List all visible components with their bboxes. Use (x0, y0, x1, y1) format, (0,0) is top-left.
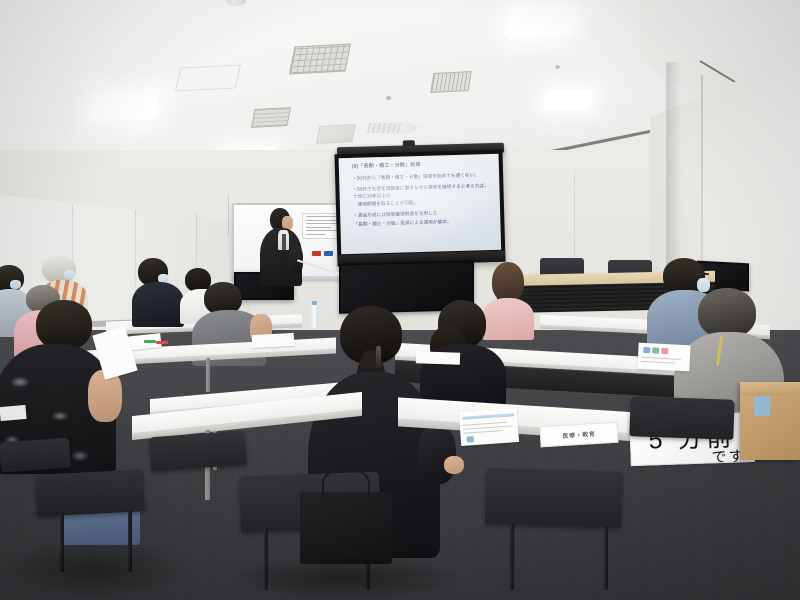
screen-pull-knob[interactable] (403, 140, 415, 146)
ceiling-light-4 (542, 89, 593, 111)
left-pale-mask (10, 280, 21, 289)
ceiling-light-3 (505, 5, 579, 37)
bottle-cap-1 (312, 301, 317, 305)
paper-left-edge (0, 405, 27, 421)
chair-left-mid (0, 438, 71, 473)
chair-mid-right (629, 396, 734, 440)
handbag-handle (322, 470, 370, 498)
table-row-3-leg (206, 358, 210, 392)
floor-shadow-center (230, 556, 460, 600)
handout2-block-blue (643, 347, 650, 353)
ponytail-hand (444, 456, 464, 474)
slide-line-5: 「長期・積立・分散」投資による運用が基本。 (353, 218, 490, 228)
whiteboard-magnet-red (312, 251, 321, 256)
handout-line-2 (463, 425, 513, 429)
chair-right-front-leg-2 (604, 526, 608, 590)
handout-band (462, 413, 514, 420)
whiteboard-magnet-blue (324, 251, 333, 256)
paper-right-edge (416, 351, 460, 365)
green-marker (144, 340, 156, 343)
chair-right-front (485, 468, 622, 528)
handbag (300, 492, 392, 564)
ceiling-speaker-panel (430, 71, 472, 93)
water-bottle-1 (311, 305, 318, 328)
handout-chart-block (467, 436, 474, 442)
slide-line-3: 運用期間を取ることが可能。 (353, 198, 490, 208)
handout2-block-pink (661, 348, 668, 354)
chair-mid-left (149, 431, 247, 472)
pink-blouse-head (492, 262, 524, 302)
floor-shadow-left (0, 540, 190, 600)
red-marker (156, 341, 168, 344)
cardboard-box-lid (740, 382, 800, 396)
ceiling-air-vent-1 (289, 44, 351, 75)
hair-clip (376, 346, 381, 368)
wall-seam-4 (228, 196, 229, 236)
ponytail-arm (418, 426, 456, 484)
chair-right-front-leg (510, 524, 514, 590)
presenter-tie (282, 234, 286, 250)
handout-right-2 (637, 343, 690, 372)
handout2-line-1 (641, 357, 681, 360)
handout2-line-2 (641, 361, 675, 364)
handout2-block-green (652, 347, 659, 353)
projection-screen: (8)「長期・積立・分散」投資 ・50代から「長期・積立・分散」投資を始めても遅… (334, 150, 505, 267)
handout-paper-2 (252, 333, 295, 348)
slide-line-1: ・50代から「長期・積立・分散」投資を始めても遅くない。 (352, 172, 489, 182)
presentation-slide: (8)「長期・積立・分散」投資 ・50代から「長期・積立・分散」投資を始めても遅… (346, 156, 496, 251)
ceiling-air-vent-3 (316, 124, 356, 144)
cardboard-box (740, 382, 800, 460)
grey-sweater-head (698, 288, 756, 338)
ceiling-air-vent-2 (251, 107, 291, 128)
cardboard-box-tape (754, 396, 770, 416)
slide-body: ・50代から「長期・積立・分散」投資を始めても遅くない。 ・50代でも定年退職後… (352, 172, 490, 228)
smoke-detector-2 (386, 96, 391, 100)
grey-hair-mask (64, 270, 75, 279)
front-left-head (36, 300, 92, 350)
ceiling-panel-joint (175, 64, 241, 91)
slide-line-2: ・50代でも定年退職後に働きながら運用を継続すると考えれば、十分に10年以上の (352, 183, 489, 200)
pink-blouse-body (482, 298, 534, 340)
ceiling-vent-strip (367, 123, 401, 133)
blue-shirt-mask (697, 278, 710, 292)
ceiling-light-1 (88, 88, 161, 121)
smoke-detector-3 (555, 65, 560, 69)
desk-label-text: 医療・教育 (562, 429, 596, 440)
navy-woman-body (132, 282, 184, 327)
slide-title: (8)「長期・積立・分散」投資 (352, 160, 489, 171)
handout-right-1 (459, 408, 519, 446)
seminar-room-photo: (8)「長期・積立・分散」投資 ・50代から「長期・積立・分散」投資を始めても遅… (0, 0, 800, 600)
handout-line-3 (463, 430, 501, 434)
blue-shirt-glasses (693, 273, 709, 275)
